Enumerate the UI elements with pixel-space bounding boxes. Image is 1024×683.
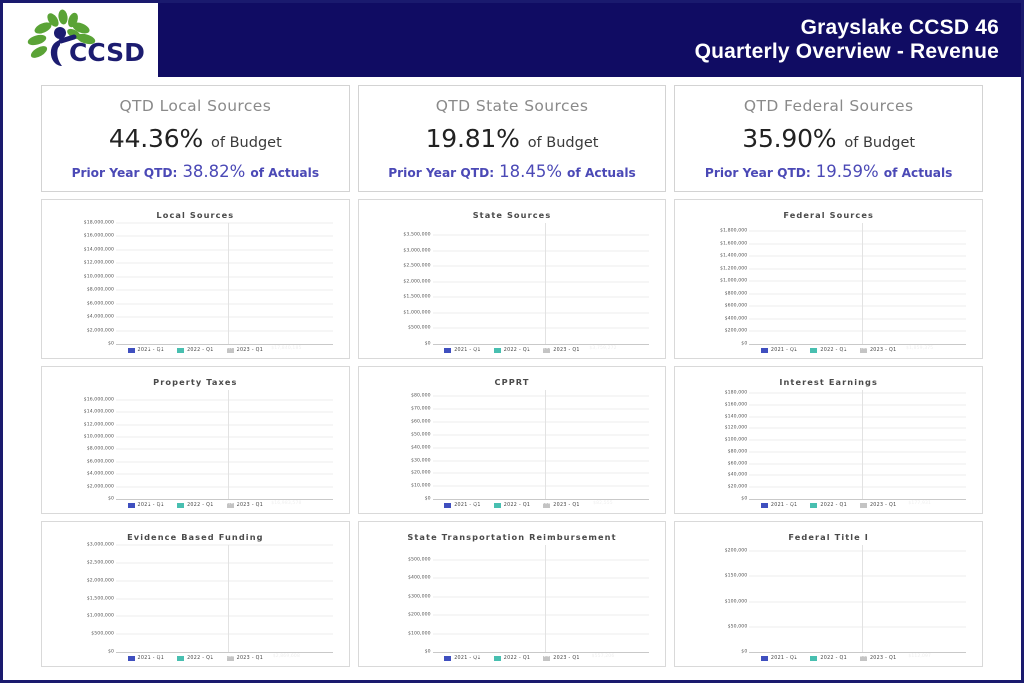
y-axis-tick-label: $20,000 bbox=[411, 471, 431, 476]
y-axis-tick-label: $12,000,000 bbox=[84, 422, 114, 427]
chart-row-2: Property Taxes$0$2,000,000$4,000,000$6,0… bbox=[3, 359, 1021, 514]
chart-title: State Transportation Reimbursement bbox=[365, 528, 660, 545]
y-axis-tick-label: $100,000 bbox=[725, 599, 748, 604]
y-axis-tick-label: $1,200,000 bbox=[720, 266, 747, 271]
kpi-title: QTD Federal Sources bbox=[744, 97, 914, 115]
y-axis-tick-label: $0 bbox=[108, 342, 114, 347]
y-axis-tick-label: $3,500,000 bbox=[403, 233, 430, 238]
bar-value-label: $15,019,782 bbox=[193, 346, 255, 351]
bar-group: $118,687$201,252$112,097 bbox=[749, 545, 966, 652]
chart-card-state-transportation-reimbursement[interactable]: State Transportation Reimbursement$0$100… bbox=[358, 521, 667, 667]
chart-plot-area: $0$200,000$400,000$600,000$800,000$1,000… bbox=[685, 223, 970, 344]
y-axis-tick-label: $2,500,000 bbox=[87, 560, 114, 565]
chart-plot-area: $0$2,000,000$4,000,000$6,000,000$8,000,0… bbox=[52, 223, 337, 344]
y-axis-tick-label: $100,000 bbox=[408, 631, 431, 636]
y-axis-tick-label: $500,000 bbox=[408, 557, 431, 562]
bar-value-label: $17,840,185 bbox=[255, 346, 317, 351]
kpi-of-label: of Budget bbox=[211, 135, 282, 151]
kpi-card-row: QTD Local Sources 44.36% of Budget Prior… bbox=[3, 77, 1021, 192]
axis-baseline bbox=[433, 499, 650, 500]
y-axis-tick-label: $2,500,000 bbox=[403, 264, 430, 269]
kpi-main-value: 44.36% of Budget bbox=[109, 124, 282, 153]
bar-value-label: $2,869,608 bbox=[255, 654, 317, 659]
chart-title: CPPRT bbox=[365, 373, 660, 390]
y-axis-tick-label: $200,000 bbox=[408, 613, 431, 618]
kpi-prior-label: Prior Year QTD: bbox=[388, 166, 494, 180]
chart-card-local-sources[interactable]: Local Sources$0$2,000,000$4,000,000$6,00… bbox=[41, 199, 350, 359]
kpi-prior-suffix: of Actuals bbox=[884, 166, 953, 180]
y-axis-tick-label: $30,000 bbox=[411, 458, 431, 463]
bar-group: $2,990,776$3,306,974$3,759,272 bbox=[433, 223, 650, 344]
chart-plot-area: $0$2,000,000$4,000,000$6,000,000$8,000,0… bbox=[52, 390, 337, 499]
y-axis-tick-label: $0 bbox=[741, 650, 747, 655]
kpi-prior-suffix: of Actuals bbox=[250, 166, 319, 180]
chart-card-cpprt[interactable]: CPPRT$0$10,000$20,000$30,000$40,000$50,0… bbox=[358, 366, 667, 514]
bar-value-label: $1,411,633 bbox=[827, 346, 889, 351]
y-axis-tick-label: $16,000,000 bbox=[84, 397, 114, 402]
axis-baseline bbox=[433, 652, 650, 653]
kpi-card-federal-sources[interactable]: QTD Federal Sources 35.90% of Budget Pri… bbox=[674, 85, 983, 192]
y-axis-tick-label: $3,000,000 bbox=[87, 543, 114, 548]
y-axis-tick-label: $400,000 bbox=[725, 316, 748, 321]
y-axis-tick-label: $4,000,000 bbox=[87, 472, 114, 477]
y-axis-tick-label: $200,000 bbox=[725, 329, 748, 334]
bar-value-label: $3,306,974 bbox=[510, 346, 572, 351]
y-axis-tick-label: $150,000 bbox=[725, 574, 748, 579]
bar-value-label: $3,759,272 bbox=[572, 346, 634, 351]
y-axis-tick-label: $40,000 bbox=[728, 473, 748, 478]
bar-value-label: $20,169 bbox=[765, 501, 827, 506]
bar-value-label: $14,548,845 bbox=[131, 346, 193, 351]
y-axis-tick-label: $16,000,000 bbox=[84, 234, 114, 239]
bar-group: $20,169$177,931 bbox=[749, 390, 966, 499]
y-axis-tick-label: $3,000,000 bbox=[403, 248, 430, 253]
dashboard-page: CCSD 46 Grayslake CCSD 46 Quarterly Over… bbox=[0, 0, 1024, 683]
bar-value-label: $16,983,578 bbox=[255, 501, 317, 506]
y-axis-tick-label: $10,000,000 bbox=[84, 274, 114, 279]
kpi-prior-percent: 19.59% bbox=[816, 162, 879, 181]
kpi-main-value: 35.90% of Budget bbox=[742, 124, 915, 153]
chart-title: Federal Sources bbox=[681, 206, 976, 223]
y-axis-tick-label: $0 bbox=[741, 342, 747, 347]
bar-group: $388,211$408,145$557,206 bbox=[433, 545, 650, 652]
kpi-of-label: of Budget bbox=[844, 135, 915, 151]
bar-value-label: $505,358 bbox=[765, 346, 827, 351]
y-axis-tick-label: $0 bbox=[108, 497, 114, 502]
kpi-percent: 35.90% bbox=[742, 124, 836, 153]
kpi-prior-year: Prior Year QTD: 18.45% of Actuals bbox=[388, 162, 636, 181]
y-axis-tick-label: $2,000,000 bbox=[87, 578, 114, 583]
kpi-prior-suffix: of Actuals bbox=[567, 166, 636, 180]
bar-group: $14,290,736$14,535,131$16,983,578 bbox=[116, 390, 333, 499]
y-axis-tick-label: $1,500,000 bbox=[87, 596, 114, 601]
kpi-prior-label: Prior Year QTD: bbox=[72, 166, 178, 180]
bar-value-label: $14,290,736 bbox=[131, 501, 193, 506]
bar-value-label: $1,859,375 bbox=[889, 346, 951, 351]
district-logo: CCSD 46 bbox=[3, 3, 158, 77]
axis-baseline bbox=[116, 652, 333, 653]
chart-plot-area: $0$20,000$40,000$60,000$80,000$100,000$1… bbox=[685, 390, 970, 499]
dashboard-header: CCSD 46 Grayslake CCSD 46 Quarterly Over… bbox=[3, 3, 1021, 77]
y-axis-tick-label: $300,000 bbox=[408, 594, 431, 599]
y-axis-tick-label: $2,000,000 bbox=[403, 279, 430, 284]
y-axis-tick-label: $18,000,000 bbox=[84, 221, 114, 226]
kpi-prior-year: Prior Year QTD: 38.82% of Actuals bbox=[72, 162, 320, 181]
kpi-title: QTD Local Sources bbox=[119, 97, 271, 115]
header-title-line2: Quarterly Overview - Revenue bbox=[695, 40, 999, 64]
kpi-percent: 19.81% bbox=[426, 124, 520, 153]
y-axis-tick-label: $1,400,000 bbox=[720, 254, 747, 259]
y-axis-tick-label: $400,000 bbox=[408, 576, 431, 581]
y-axis-tick-label: $80,000 bbox=[728, 449, 748, 454]
y-axis-tick-label: $500,000 bbox=[91, 632, 114, 637]
kpi-of-label: of Budget bbox=[528, 135, 599, 151]
y-axis-tick-label: $1,000,000 bbox=[87, 614, 114, 619]
bar-value-label: $201,252 bbox=[827, 654, 889, 659]
y-axis-tick-label: $14,000,000 bbox=[84, 410, 114, 415]
bar-value-label: $2,462,372 bbox=[131, 654, 193, 659]
y-axis-tick-label: $160,000 bbox=[725, 402, 748, 407]
chart-card-federal-title-i[interactable]: Federal Title I$0$50,000$100,000$150,000… bbox=[674, 521, 983, 667]
chart-card-evidence-based-funding[interactable]: Evidence Based Funding$0$500,000$1,000,0… bbox=[41, 521, 350, 667]
axis-baseline bbox=[749, 344, 966, 345]
y-axis-tick-label: $10,000 bbox=[411, 484, 431, 489]
chart-plot-area: $0$500,000$1,000,000$1,500,000$2,000,000… bbox=[52, 545, 337, 652]
y-axis-tick-label: $200,000 bbox=[725, 549, 748, 554]
bar-value-label: $112,097 bbox=[889, 654, 951, 659]
chart-plot-area: $0$100,000$200,000$300,000$400,000$500,0… bbox=[369, 545, 654, 652]
bar-group: $37,223$44,108$82,555 bbox=[433, 390, 650, 499]
y-axis-tick-label: $1,000,000 bbox=[403, 310, 430, 315]
axis-baseline bbox=[116, 499, 333, 500]
y-axis-tick-label: $80,000 bbox=[411, 394, 431, 399]
y-axis-tick-label: $60,000 bbox=[728, 461, 748, 466]
chart-title: Interest Earnings bbox=[681, 373, 976, 390]
kpi-prior-percent: 18.45% bbox=[499, 162, 562, 181]
chart-card-interest-earnings[interactable]: Interest Earnings$0$20,000$40,000$60,000… bbox=[674, 366, 983, 514]
y-axis-tick-label: $70,000 bbox=[411, 407, 431, 412]
axis-baseline bbox=[116, 344, 333, 345]
bar-value-label: $14,535,131 bbox=[193, 501, 255, 506]
y-axis-tick-label: $140,000 bbox=[725, 414, 748, 419]
y-axis-tick-label: $6,000,000 bbox=[87, 301, 114, 306]
y-axis-tick-label: $1,800,000 bbox=[720, 229, 747, 234]
bar-group: $2,462,372$2,637,634$2,869,608 bbox=[116, 545, 333, 652]
y-axis-tick-label: $120,000 bbox=[725, 426, 748, 431]
y-axis-tick-label: $0 bbox=[425, 497, 431, 502]
header-title-bar: Grayslake CCSD 46 Quarterly Overview - R… bbox=[158, 3, 1021, 77]
bar-value-label: $118,687 bbox=[765, 654, 827, 659]
y-axis-tick-label: $50,000 bbox=[728, 624, 748, 629]
kpi-prior-year: Prior Year QTD: 19.59% of Actuals bbox=[705, 162, 953, 181]
y-axis-tick-label: $600,000 bbox=[725, 304, 748, 309]
chart-plot-area: $0$50,000$100,000$150,000$200,000$118,68… bbox=[685, 545, 970, 652]
bar-value-label: $557,206 bbox=[572, 654, 634, 659]
chart-card-property-taxes[interactable]: Property Taxes$0$2,000,000$4,000,000$6,0… bbox=[41, 366, 350, 514]
y-axis-tick-label: $0 bbox=[741, 497, 747, 502]
bar-value-label: $408,145 bbox=[510, 654, 572, 659]
kpi-title: QTD State Sources bbox=[436, 97, 589, 115]
y-axis-tick-label: $12,000,000 bbox=[84, 261, 114, 266]
chart-plot-area: $0$10,000$20,000$30,000$40,000$50,000$60… bbox=[369, 390, 654, 499]
bar-value-label: $2,990,776 bbox=[448, 346, 510, 351]
y-axis-tick-label: $20,000 bbox=[728, 485, 748, 490]
chart-row-1: Local Sources$0$2,000,000$4,000,000$6,00… bbox=[3, 192, 1021, 359]
bar-value-label: $37,223 bbox=[448, 501, 510, 506]
chart-title: State Sources bbox=[365, 206, 660, 223]
bar-value-label: $177,931 bbox=[889, 501, 951, 506]
y-axis-tick-label: $8,000,000 bbox=[87, 447, 114, 452]
y-axis-tick-label: $50,000 bbox=[411, 432, 431, 437]
y-axis-tick-label: $8,000,000 bbox=[87, 288, 114, 293]
kpi-prior-percent: 38.82% bbox=[182, 162, 245, 181]
svg-text:CCSD 46: CCSD 46 bbox=[69, 38, 145, 67]
legend-swatch-icon bbox=[860, 503, 867, 508]
axis-baseline bbox=[749, 499, 966, 500]
chart-title: Property Taxes bbox=[48, 373, 343, 390]
chart-card-federal-sources[interactable]: Federal Sources$0$200,000$400,000$600,00… bbox=[674, 199, 983, 359]
header-title-line1: Grayslake CCSD 46 bbox=[801, 16, 999, 40]
y-axis-tick-label: $40,000 bbox=[411, 445, 431, 450]
chart-title: Federal Title I bbox=[681, 528, 976, 545]
chart-row-3: Evidence Based Funding$0$500,000$1,000,0… bbox=[3, 514, 1021, 667]
y-axis-tick-label: $14,000,000 bbox=[84, 247, 114, 252]
y-axis-tick-label: $800,000 bbox=[725, 291, 748, 296]
y-axis-tick-label: $0 bbox=[425, 342, 431, 347]
chart-plot-area: $0$500,000$1,000,000$1,500,000$2,000,000… bbox=[369, 223, 654, 344]
bar-value-label: $388,211 bbox=[448, 654, 510, 659]
kpi-percent: 44.36% bbox=[109, 124, 203, 153]
y-axis-tick-label: $1,000,000 bbox=[720, 279, 747, 284]
bar-value-label: $44,108 bbox=[510, 501, 572, 506]
kpi-card-local-sources[interactable]: QTD Local Sources 44.36% of Budget Prior… bbox=[41, 85, 350, 192]
kpi-prior-label: Prior Year QTD: bbox=[705, 166, 811, 180]
bar-group: $505,358$1,411,633$1,859,375 bbox=[749, 223, 966, 344]
y-axis-tick-label: $2,000,000 bbox=[87, 328, 114, 333]
chart-card-state-sources[interactable]: State Sources$0$500,000$1,000,000$1,500,… bbox=[358, 199, 667, 359]
y-axis-tick-label: $6,000,000 bbox=[87, 459, 114, 464]
y-axis-tick-label: $500,000 bbox=[408, 326, 431, 331]
kpi-card-state-sources[interactable]: QTD State Sources 19.81% of Budget Prior… bbox=[358, 85, 667, 192]
y-axis-tick-label: $0 bbox=[108, 650, 114, 655]
y-axis-tick-label: $0 bbox=[425, 650, 431, 655]
bar-value-label: $2,637,634 bbox=[193, 654, 255, 659]
y-axis-tick-label: $4,000,000 bbox=[87, 315, 114, 320]
axis-baseline bbox=[433, 344, 650, 345]
bar-value-label: $82,555 bbox=[572, 501, 634, 506]
kpi-main-value: 19.81% of Budget bbox=[426, 124, 599, 153]
y-axis-tick-label: $60,000 bbox=[411, 420, 431, 425]
tree-person-logo-icon: CCSD 46 bbox=[17, 9, 145, 71]
y-axis-tick-label: $180,000 bbox=[725, 390, 748, 395]
y-axis-tick-label: $1,600,000 bbox=[720, 241, 747, 246]
axis-baseline bbox=[749, 652, 966, 653]
y-axis-tick-label: $100,000 bbox=[725, 438, 748, 443]
y-axis-tick-label: $1,500,000 bbox=[403, 295, 430, 300]
y-axis-tick-label: $10,000,000 bbox=[84, 435, 114, 440]
bar-group: $14,548,845$15,019,782$17,840,185 bbox=[116, 223, 333, 344]
y-axis-tick-label: $2,000,000 bbox=[87, 484, 114, 489]
